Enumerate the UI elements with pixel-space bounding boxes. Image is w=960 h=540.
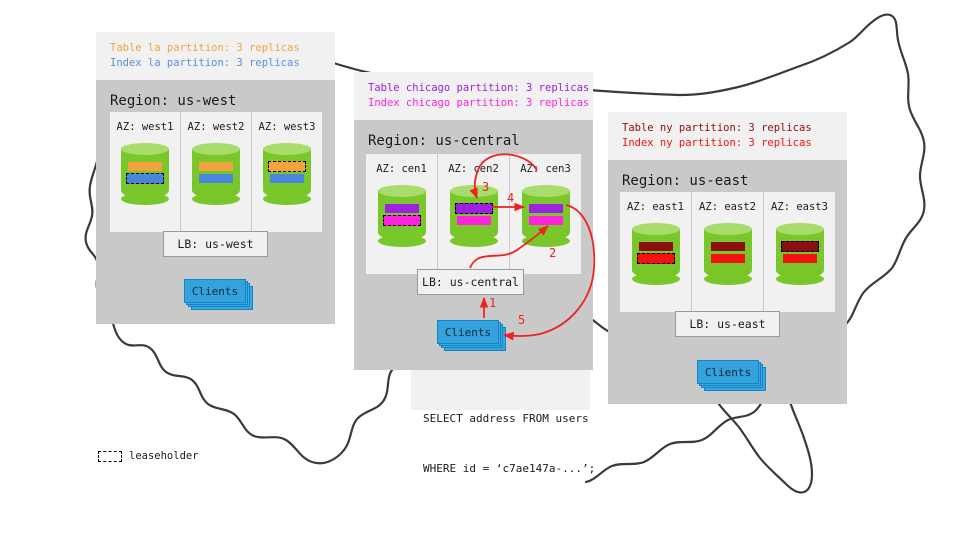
replica-bar-index <box>199 174 233 183</box>
partition-index-line-chicago: Index chicago partition: 3 replicas <box>368 96 579 111</box>
clients-label[interactable]: Clients <box>184 279 246 303</box>
clients-us-east[interactable]: Clients <box>697 360 759 384</box>
partition-index-line-ny: Index ny partition: 3 replicas <box>622 136 833 151</box>
db-cylinder-west2[interactable] <box>192 143 240 205</box>
replica-bar-index-leaseholder <box>637 253 675 264</box>
az-cell-cen2[interactable]: AZ: cen2 <box>438 154 510 274</box>
flow-step-number-4: 4 <box>507 191 514 205</box>
az-row-us-west: AZ: west1 AZ: west2 AZ: west3 <box>110 112 322 232</box>
partition-table-line-la: Table la partition: 3 replicas <box>110 41 321 56</box>
az-label-west3: AZ: west3 <box>259 121 316 133</box>
replica-bar-table <box>128 162 162 171</box>
az-cell-west2[interactable]: AZ: west2 <box>181 112 252 232</box>
partition-table-line-chicago: Table chicago partition: 3 replicas <box>368 81 579 96</box>
az-cell-west1[interactable]: AZ: west1 <box>110 112 181 232</box>
legend-label: leaseholder <box>129 450 199 462</box>
sql-line-1: SELECT address FROM users <box>423 411 578 428</box>
cylinder-top <box>263 143 311 155</box>
cylinder-top <box>632 223 680 235</box>
replica-bar-table <box>639 242 673 251</box>
cylinder-top <box>192 143 240 155</box>
az-label-east2: AZ: east2 <box>699 201 756 213</box>
db-cylinder-west3[interactable] <box>263 143 311 205</box>
replica-bar-index <box>529 216 563 225</box>
az-cell-cen1[interactable]: AZ: cen1 <box>366 154 438 274</box>
db-cylinder-cen1[interactable] <box>378 185 426 247</box>
az-cell-east2[interactable]: AZ: east2 <box>692 192 764 312</box>
flow-step-number-3: 3 <box>482 180 489 194</box>
cylinder-top <box>522 185 570 197</box>
replica-bar-index <box>711 254 745 263</box>
dashed-rectangle-icon <box>98 451 122 462</box>
legend-leaseholder: leaseholder <box>98 450 199 462</box>
db-cylinder-east1[interactable] <box>632 223 680 285</box>
clients-us-west[interactable]: Clients <box>184 279 246 303</box>
az-label-east1: AZ: east1 <box>627 201 684 213</box>
load-balancer-us-central[interactable]: LB: us-central <box>417 269 524 295</box>
az-cell-east1[interactable]: AZ: east1 <box>620 192 692 312</box>
partition-card-us-east: Table ny partition: 3 replicas Index ny … <box>608 112 847 160</box>
replica-bar-table <box>385 204 419 213</box>
az-label-cen3: AZ: cen3 <box>520 163 571 175</box>
load-balancer-us-west[interactable]: LB: us-west <box>163 231 268 257</box>
replica-bar-table-leaseholder <box>268 161 306 172</box>
replica-bar-index <box>457 216 491 225</box>
az-label-west1: AZ: west1 <box>117 121 174 133</box>
region-title-us-central: Region: us-central <box>368 133 520 149</box>
az-cell-east3[interactable]: AZ: east3 <box>764 192 835 312</box>
replica-bar-index-leaseholder <box>126 173 164 184</box>
cylinder-top <box>378 185 426 197</box>
cylinder-top <box>121 143 169 155</box>
clients-us-central[interactable]: Clients <box>437 320 499 344</box>
az-label-cen2: AZ: cen2 <box>448 163 499 175</box>
db-cylinder-west1[interactable] <box>121 143 169 205</box>
replica-bar-index-leaseholder <box>383 215 421 226</box>
replica-bar-table-leaseholder <box>781 241 819 252</box>
partition-index-line-la: Index la partition: 3 replicas <box>110 56 321 71</box>
az-cell-west3[interactable]: AZ: west3 <box>252 112 322 232</box>
partition-card-us-west: Table la partition: 3 replicas Index la … <box>96 32 335 80</box>
replica-bar-index <box>783 254 817 263</box>
sql-query-box: SELECT address FROM users WHERE id = ‘c7… <box>411 370 590 410</box>
replica-bar-table <box>199 162 233 171</box>
cylinder-top <box>776 223 824 235</box>
db-cylinder-east3[interactable] <box>776 223 824 285</box>
clients-label[interactable]: Clients <box>437 320 499 344</box>
az-label-cen1: AZ: cen1 <box>376 163 427 175</box>
az-cell-cen3[interactable]: AZ: cen3 <box>510 154 581 274</box>
replica-bar-table <box>529 204 563 213</box>
partition-card-us-central: Table chicago partition: 3 replicas Inde… <box>354 72 593 120</box>
flow-step-number-2: 2 <box>549 246 556 260</box>
replica-bar-index <box>270 174 304 183</box>
replica-bar-table-leaseholder <box>455 203 493 214</box>
flow-step-number-5: 5 <box>518 313 525 327</box>
db-cylinder-cen2[interactable] <box>450 185 498 247</box>
region-title-us-east: Region: us-east <box>622 173 748 189</box>
flow-step-number-1: 1 <box>489 296 496 310</box>
cylinder-top <box>450 185 498 197</box>
cylinder-top <box>704 223 752 235</box>
db-cylinder-cen3[interactable] <box>522 185 570 247</box>
az-label-east3: AZ: east3 <box>771 201 828 213</box>
partition-table-line-ny: Table ny partition: 3 replicas <box>622 121 833 136</box>
db-cylinder-east2[interactable] <box>704 223 752 285</box>
az-row-us-east: AZ: east1 AZ: east2 AZ: east3 <box>620 192 835 312</box>
load-balancer-us-east[interactable]: LB: us-east <box>675 311 780 337</box>
region-title-us-west: Region: us-west <box>110 93 236 109</box>
replica-bar-table <box>711 242 745 251</box>
clients-label[interactable]: Clients <box>697 360 759 384</box>
sql-line-2: WHERE id = ‘c7ae147a-...’; <box>423 461 578 478</box>
az-label-west2: AZ: west2 <box>188 121 245 133</box>
diagram-canvas: Table la partition: 3 replicas Index la … <box>0 0 960 540</box>
